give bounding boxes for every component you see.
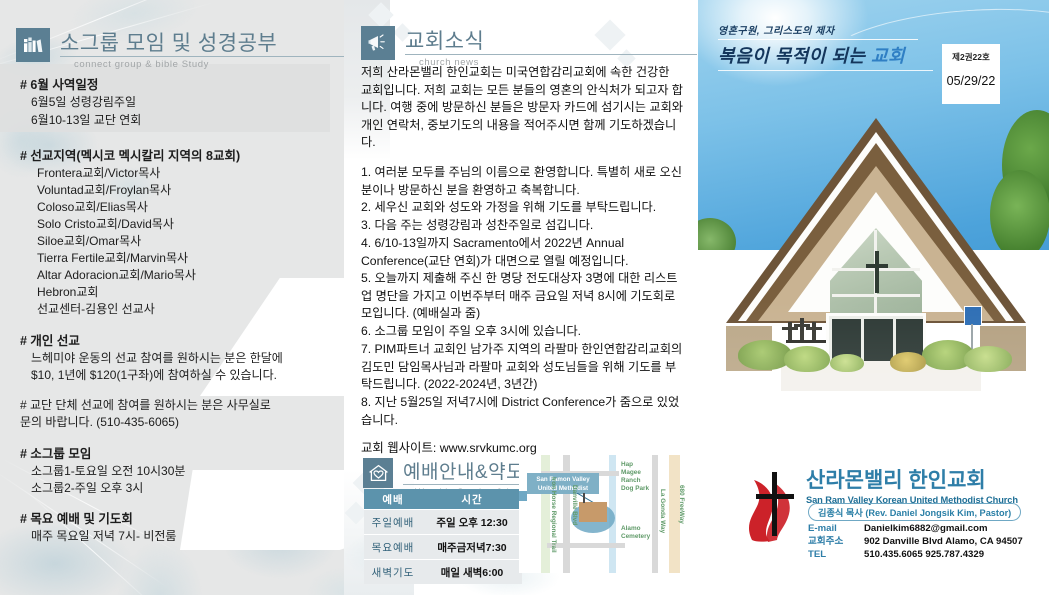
left-section-title: 소그룹 모임 및 성경공부 bbox=[60, 27, 277, 57]
small-group-heading: # 소그룹 모임 bbox=[20, 443, 91, 462]
mission-church-item: Frontera교회/Victor목사 bbox=[37, 164, 160, 181]
thursday-service-heading: # 목요 예배 및 기도회 bbox=[20, 508, 133, 527]
contact-row: TEL 510.435.6065 925.787.4329 bbox=[808, 548, 1023, 561]
map-label-trail: Iron Horse Regional Trail bbox=[549, 477, 557, 553]
slogan-block: 영혼구원, 그리스도의 제자 복음이 목적이 되는 교회 bbox=[718, 22, 928, 71]
umc-cross-and-flame-logo bbox=[742, 466, 802, 544]
announcement-item: 2. 세우신 교회와 성도와 가정을 위해 기도를 부탁드립니다. bbox=[361, 199, 683, 217]
brochure-page: 소그룹 모임 및 성경공부 connect group & bible Stud… bbox=[0, 0, 1049, 595]
announcement-item: 6. 소그룹 모임이 주일 오후 3시에 있습니다. bbox=[361, 323, 683, 341]
contact-value[interactable]: Danielkim6882@gmail.com bbox=[864, 522, 987, 535]
map-road-cross bbox=[547, 543, 625, 548]
contact-label: TEL bbox=[808, 548, 864, 561]
worship-table-row: 새벽기도 매일 새벽6:00 bbox=[364, 560, 522, 584]
announcement-item: 3. 다음 주는 성령강림과 성찬주일로 섬깁니다. bbox=[361, 217, 683, 235]
issue-volume: 제2권22호 bbox=[942, 44, 1000, 63]
announcement-item: 4. 6/10-13일까지 Sacramento에서 2022년 Annual … bbox=[361, 235, 683, 270]
announcement-item: 5. 오늘까지 제출해 주신 한 명당 전도대상자 3명에 대한 리스트 업 명… bbox=[361, 270, 683, 323]
contact-label: 교회주소 bbox=[808, 535, 864, 548]
worship-service-time: 매일 새벽6:00 bbox=[422, 565, 522, 580]
window-mullion bbox=[832, 294, 920, 297]
announcement-item: 7. PIM파트너 교회인 남가주 지역의 라팔마 한인연합감리교회의 김도민 … bbox=[361, 341, 683, 394]
left-section-subtitle: connect group & bible Study bbox=[74, 59, 209, 70]
footer-contact-list: E-mail Danielkim6882@gmail.com 교회주소 902 … bbox=[808, 522, 1023, 561]
photo-fade-overlay bbox=[698, 300, 1049, 470]
mission-church-item: Solo Cristo교회/David목사 bbox=[37, 215, 174, 232]
worship-col-time: 시간 bbox=[422, 492, 522, 507]
contact-label: E-mail bbox=[808, 522, 864, 535]
worship-col-service: 예배 bbox=[364, 492, 422, 507]
footer-church-name: 산라몬밸리 한인교회 San Ram Valley Korean United … bbox=[806, 464, 1018, 505]
megaphone-icon bbox=[361, 26, 395, 60]
worship-service-name: 목요예배 bbox=[364, 540, 422, 555]
worship-section-title: 예배안내&약도 bbox=[403, 457, 524, 484]
issue-date: 05/29/22 bbox=[942, 63, 1000, 88]
map-label-dogpark: Hap Magee Ranch Dog Park bbox=[621, 461, 651, 493]
mission-church-item: Siloe교회/Omar목사 bbox=[37, 232, 141, 249]
schedule-item: 6월5일 성령강림주일 bbox=[31, 93, 136, 110]
worship-table-header: 예배 시간 bbox=[364, 489, 522, 509]
mission-church-item: Coloso교회/Elias목사 bbox=[37, 198, 148, 215]
contact-row: 교회주소 902 Danville Blvd Alamo, CA 94507 bbox=[808, 535, 1023, 548]
location-map[interactable]: San Ramon Valley United Methodist Iron H… bbox=[519, 455, 698, 573]
personal-mission-heading: # 개인 선교 bbox=[20, 330, 80, 349]
map-label-danville: Danville Blvd bbox=[570, 485, 578, 525]
books-icon bbox=[16, 28, 50, 62]
thursday-service-item: 매주 목요일 저녁 7시- 비전룸 bbox=[31, 527, 176, 544]
mission-church-item: Voluntad교회/Froylan목사 bbox=[37, 181, 171, 198]
map-label-lagonda: La Gonda Way bbox=[658, 489, 666, 533]
white-wedge bbox=[180, 470, 344, 550]
right-panel: 영혼구원, 그리스도의 제자 복음이 목적이 되는 교회 bbox=[698, 0, 1049, 595]
worship-table-row: 주일예배 주일 오후 12:30 bbox=[364, 510, 522, 534]
map-church-building bbox=[579, 502, 607, 522]
worship-service-time: 매주금저녁7:30 bbox=[422, 540, 522, 555]
map-label-freeway: 680 FreeWay bbox=[677, 485, 685, 524]
worship-service-name: 새벽기도 bbox=[364, 565, 422, 580]
contact-value: 902 Danville Blvd Alamo, CA 94507 bbox=[864, 535, 1023, 548]
small-group-item: 소그룹2-주일 오후 3시 bbox=[31, 479, 143, 496]
window-cross-icon bbox=[866, 251, 888, 293]
mission-church-item: Tierra Fertile교회/Marvin목사 bbox=[37, 249, 188, 266]
middle-section-title: 교회소식 bbox=[405, 25, 484, 55]
church-name-korean: 산라몬밸리 한인교회 bbox=[806, 464, 1018, 494]
contact-value[interactable]: 510.435.6065 925.787.4329 bbox=[864, 548, 984, 561]
map-label-cemetery: Alamo Cemetery bbox=[621, 525, 657, 541]
contact-row: E-mail Danielkim6882@gmail.com bbox=[808, 522, 1023, 535]
worship-service-time: 주일 오후 12:30 bbox=[422, 515, 522, 530]
denomination-mission-line: 문의 바랍니다. (510-435-6065) bbox=[20, 413, 179, 430]
left-panel: 소그룹 모임 및 성경공부 connect group & bible Stud… bbox=[0, 0, 344, 595]
map-callout: San Ramon Valley United Methodist bbox=[527, 473, 599, 494]
small-group-item: 소그룹1-토요일 오전 10시30분 bbox=[31, 462, 185, 479]
schedule-item: 6월10-13일 교단 연회 bbox=[31, 111, 141, 128]
mission-church-item: Hebron교회 bbox=[37, 283, 98, 300]
home-heart-icon bbox=[363, 458, 393, 488]
pastor-name: 김종식 목사 (Rev. Daniel Jongsik Kim, Pastor) bbox=[808, 503, 1021, 521]
worship-table-row: 목요예배 매주금저녁7:30 bbox=[364, 535, 522, 559]
church-intro-paragraph: 저희 산라몬밸리 한인교회는 미국연합감리교회에 속한 건강한 교회입니다. 저… bbox=[361, 64, 683, 152]
personal-mission-line: 느헤미야 운동의 선교 참여를 원하시는 분은 한달에 bbox=[31, 349, 283, 366]
announcement-item: 8. 지난 5월25일 저녁7시에 District Conference가 줌… bbox=[361, 394, 683, 429]
schedule-heading: # 6월 사역일정 bbox=[20, 74, 98, 93]
map-church-steeple bbox=[583, 493, 585, 503]
mission-church-item: 선교센터-김용인 선교사 bbox=[37, 300, 155, 317]
mission-church-item: Altar Adoracion교회/Mario목사 bbox=[37, 266, 196, 283]
middle-panel: 교회소식 church news 저희 산라몬밸리 한인교회는 미국연합감리교회… bbox=[344, 0, 698, 595]
issue-box: 제2권22호 05/29/22 bbox=[942, 44, 1000, 104]
worship-schedule-table: 예배 시간 주일예배 주일 오후 12:30 목요예배 매주금저녁7:30 새벽… bbox=[364, 489, 522, 584]
slogan-large: 복음이 목적이 되는 교회 bbox=[718, 42, 928, 68]
diamond-decoration bbox=[594, 19, 625, 50]
slogan-small: 영혼구원, 그리스도의 제자 bbox=[718, 22, 928, 37]
footer: 산라몬밸리 한인교회 San Ram Valley Korean United … bbox=[698, 462, 1049, 595]
announcement-item: 1. 여러분 모두를 주님의 이름으로 환영합니다. 특별히 새로 오신 분이나… bbox=[361, 164, 683, 199]
denomination-mission-line: # 교단 단체 선교에 참여를 원하시는 분은 사무실로 bbox=[20, 396, 271, 413]
personal-mission-line: $10, 1년에 $120(1구좌)에 참여하실 수 있습니다. bbox=[31, 366, 277, 383]
worship-service-name: 주일예배 bbox=[364, 515, 422, 530]
mission-area-heading: # 선교지역(멕시코 멕시칼리 지역의 8교회) bbox=[20, 145, 240, 164]
map-edge-marker bbox=[519, 491, 527, 501]
